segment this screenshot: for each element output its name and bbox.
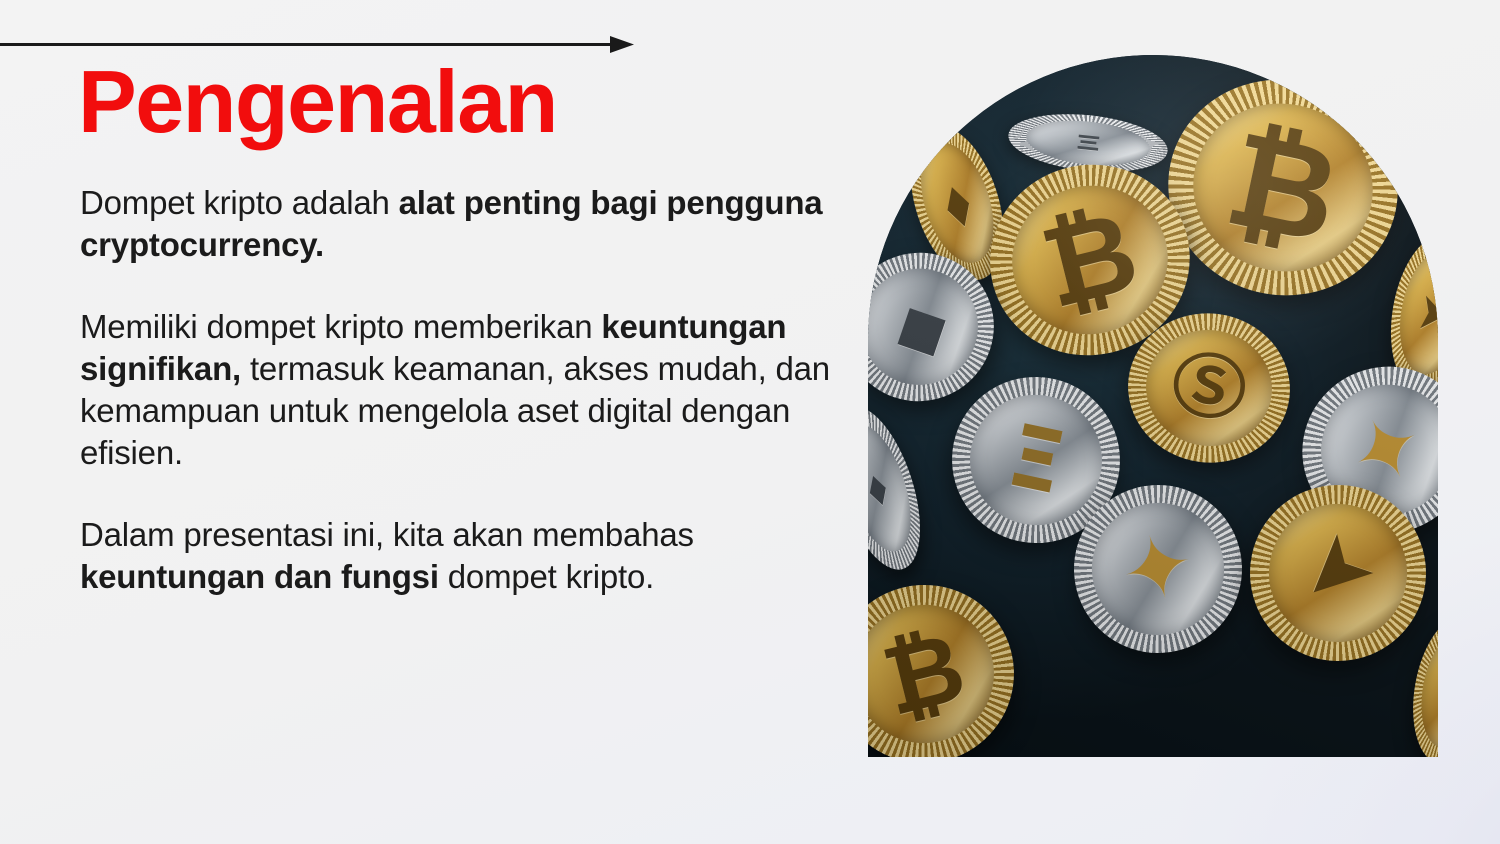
body-paragraph-1: Dompet kripto adalah alat penting bagi p…: [80, 182, 840, 266]
ethereum-icon: Ξ: [1073, 132, 1104, 154]
bitcoin-icon: ₿: [874, 618, 973, 730]
bitcoin-icon: ₿: [1032, 195, 1148, 326]
ethereum-icon: ◆: [879, 284, 958, 371]
coin-bitcoin-upper-right: ₿: [1148, 58, 1418, 316]
photo-backdrop: Ξ ₿ ◆ ₿: [868, 55, 1438, 757]
presentation-slide: Pengenalan Dompet kripto adalah alat pen…: [0, 0, 1500, 844]
paragraph-2-run-1: Memiliki dompet kripto memberikan: [80, 308, 601, 345]
ethereum-gold-icon: ◆: [938, 174, 976, 232]
coin-gold-bottom-right-sliver: ◆: [1402, 610, 1438, 757]
body-paragraph-3: Dalam presentasi ini, kita akan membahas…: [80, 514, 840, 598]
slide-title: Pengenalan: [78, 56, 557, 148]
edge-coin-icon: ◆: [868, 466, 891, 509]
cryptocurrency-coins-image: Ξ ₿ ◆ ₿: [868, 55, 1438, 757]
paragraph-3-run-1: Dalam presentasi ini, kita akan membahas: [80, 516, 694, 553]
paragraph-3-run-2: keuntungan dan fungsi: [80, 558, 439, 595]
tron-arrow-icon: ➤: [1415, 285, 1438, 341]
tron-arrow-icon: ➤: [1284, 518, 1393, 627]
stellar-icon: Ⓢ: [1168, 350, 1250, 427]
coin-bitcoin-bottom-left: ₿: [868, 566, 1033, 757]
paragraph-3-run-3: dompet kripto.: [439, 558, 654, 595]
bitcoin-icon: ₿: [1217, 112, 1350, 263]
paragraph-1-run-1: Dompet kripto adalah: [80, 184, 399, 221]
ethereum-icon: Ξ: [1000, 412, 1071, 507]
tron-icon: ✦: [1113, 519, 1204, 620]
body-paragraph-2: Memiliki dompet kripto memberikan keuntu…: [80, 306, 840, 474]
slide-body: Dompet kripto adalah alat penting bagi p…: [80, 182, 840, 598]
coin-silver-left-sliver: ◆: [868, 396, 937, 580]
